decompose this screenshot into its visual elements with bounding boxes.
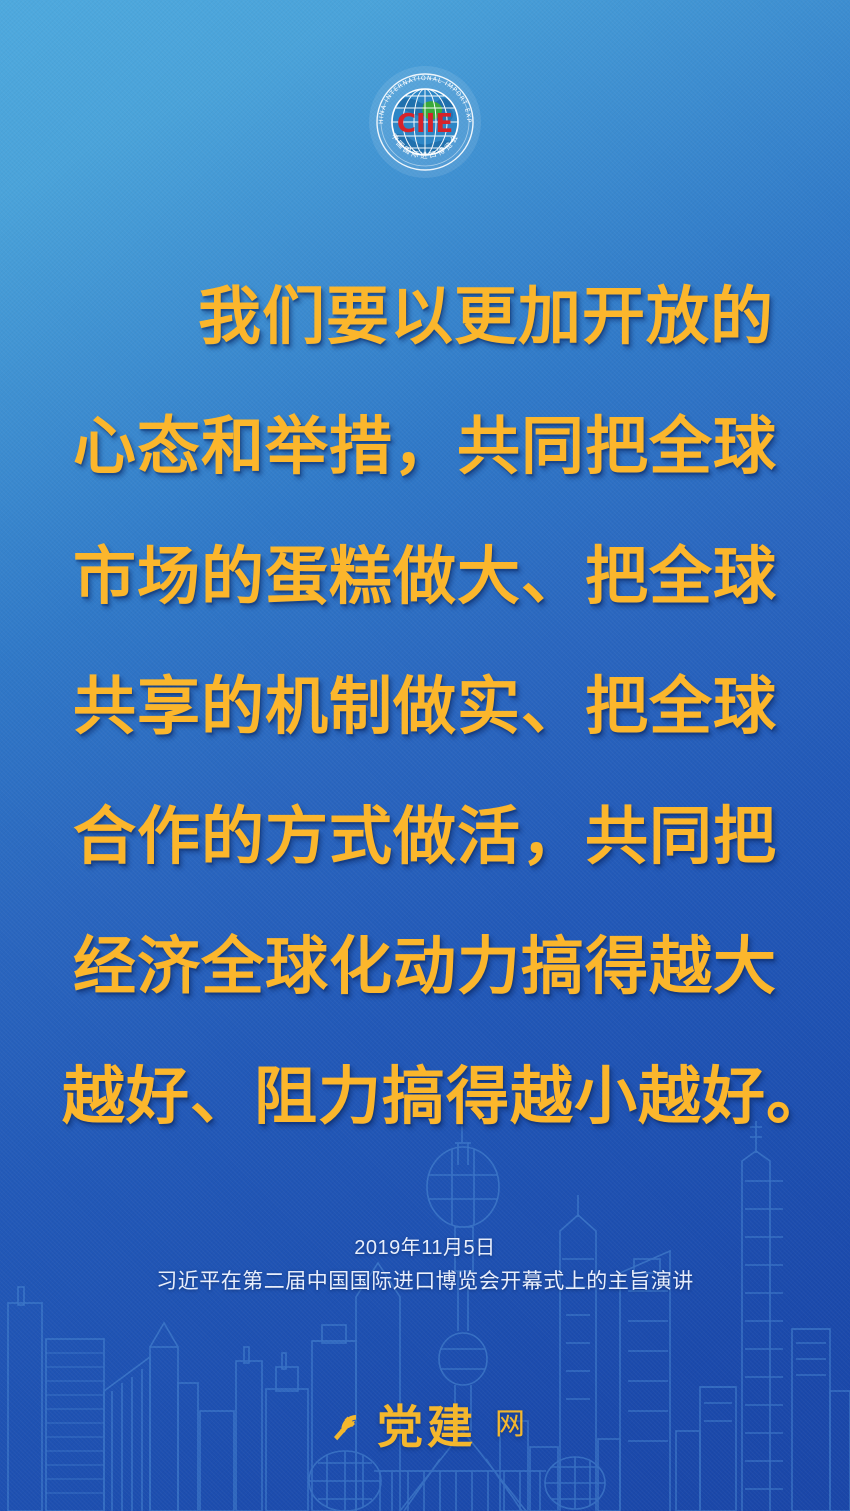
headline-line-3: 市场的蛋糕做大、把全球 xyxy=(62,512,788,642)
speech-date: 2019年11月5日 xyxy=(0,1232,850,1264)
brand-suffix: 网 xyxy=(495,1400,525,1454)
ciie-acronym: CIIE xyxy=(397,109,453,139)
headline-line-5: 合作的方式做活，共同把 xyxy=(62,772,788,902)
headline-quote: 我们要以更加开放的 心态和举措，共同把全球 市场的蛋糕做大、把全球 共享的机制做… xyxy=(0,252,850,1162)
poster-canvas: CIIE CHINA INTERNATIONAL IMPORT EXPO 中国国… xyxy=(0,0,850,1511)
site-brand: 党建 网 xyxy=(325,1400,525,1454)
ciie-logo: CIIE CHINA INTERNATIONAL IMPORT EXPO 中国国… xyxy=(365,62,485,182)
headline-line-2: 心态和举措，共同把全球 xyxy=(62,382,788,512)
headline-line-6: 经济全球化动力搞得越大 xyxy=(62,902,788,1032)
brand-name: 党建 xyxy=(377,1402,477,1452)
speech-source: 习近平在第二届中国国际进口博览会开幕式上的主旨演讲 xyxy=(0,1264,850,1300)
headline-line-4: 共享的机制做实、把全球 xyxy=(62,642,788,772)
headline-line-7: 越好、阻力搞得越小越好。 xyxy=(62,1032,788,1162)
headline-line-1: 我们要以更加开放的 xyxy=(62,252,788,382)
attribution-block: 2019年11月5日 习近平在第二届中国国际进口博览会开幕式上的主旨演讲 xyxy=(0,1232,850,1300)
party-emblem-icon xyxy=(325,1407,365,1447)
